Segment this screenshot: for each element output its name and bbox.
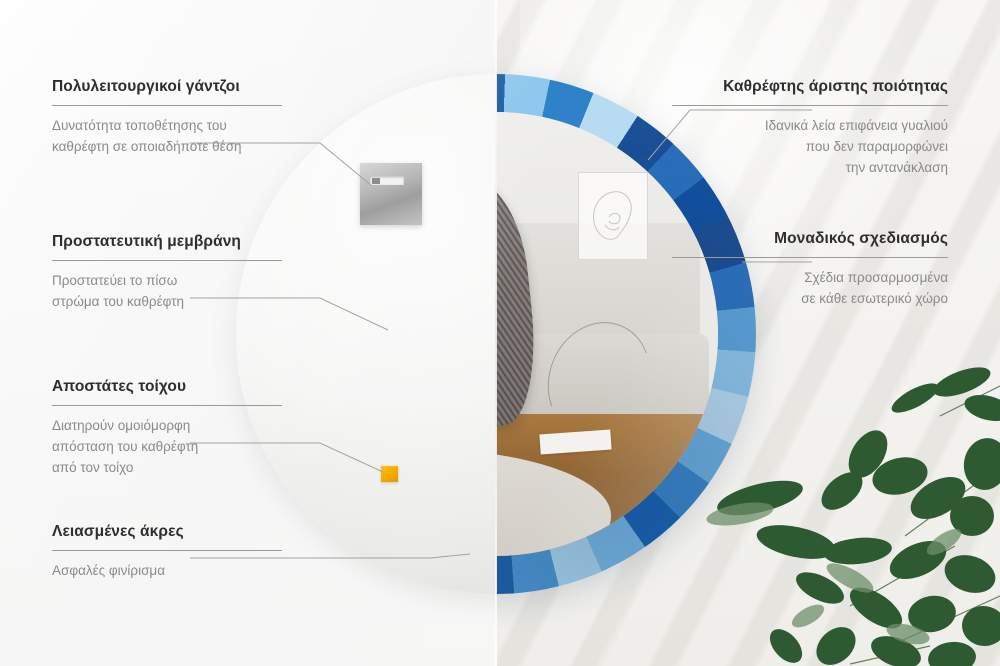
- callout-hooks: Πολυλειτουργικοί γάντζοι Δυνατότητα τοπο…: [52, 78, 282, 158]
- callout-smoothed-edges: Λειασμένες άκρες Ασφαλές φινίρισμα: [52, 523, 282, 582]
- wall-art-frame: [578, 172, 648, 260]
- line-art-face-icon: [579, 173, 647, 259]
- callout-top-quality-mirror-title: Καθρέφτης άριστης ποιότητας: [672, 78, 948, 96]
- callout-protective-membrane-rule: [52, 260, 282, 261]
- callout-wall-spacers: Αποστάτες τοίχου Διατηρούν ομοιόμορφη απ…: [52, 378, 282, 479]
- infographic-canvas: Πολυλειτουργικοί γάντζοι Δυνατότητα τοπο…: [0, 0, 1000, 666]
- callout-wall-spacers-rule: [52, 405, 282, 406]
- callout-top-quality-mirror: Καθρέφτης άριστης ποιότητας Ιδανικά λεία…: [672, 78, 948, 179]
- callout-smoothed-edges-title: Λειασμένες άκρες: [52, 523, 282, 541]
- callout-unique-design-title: Μοναδικός σχεδιασμός: [672, 230, 948, 248]
- callout-unique-design: Μοναδικός σχεδιασμός Σχέδια προσαρμοσμέν…: [672, 230, 948, 310]
- callout-protective-membrane-desc: Προστατεύει το πίσω στρώμα του καθρέφτη: [52, 271, 282, 313]
- callout-smoothed-edges-rule: [52, 550, 282, 551]
- callout-wall-spacers-title: Αποστάτες τοίχου: [52, 378, 282, 396]
- callout-unique-design-desc: Σχέδια προσαρμοσμένα σε κάθε εσωτερικό χ…: [672, 268, 948, 310]
- callout-protective-membrane: Προστατευτική μεμβράνη Προστατεύει το πί…: [52, 233, 282, 313]
- callout-smoothed-edges-desc: Ασφαλές φινίρισμα: [52, 561, 282, 582]
- callout-hooks-rule: [52, 105, 282, 106]
- callout-protective-membrane-title: Προστατευτική μεμβράνη: [52, 233, 282, 251]
- hanging-plate-hardware: [360, 163, 422, 225]
- wall-spacer-hardware: [381, 466, 398, 482]
- panel-split-line: [495, 0, 497, 666]
- keyhole-slot-icon: [370, 176, 404, 185]
- callout-hooks-desc: Δυνατότητα τοποθέτησης του καθρέφτη σε ο…: [52, 116, 282, 158]
- callout-top-quality-mirror-rule: [672, 105, 948, 106]
- callout-hooks-title: Πολυλειτουργικοί γάντζοι: [52, 78, 282, 96]
- callout-top-quality-mirror-desc: Ιδανικά λεία επιφάνεια γυαλιού που δεν π…: [672, 116, 948, 179]
- callout-wall-spacers-desc: Διατηρούν ομοιόμορφη απόσταση του καθρέφ…: [52, 416, 282, 479]
- callout-unique-design-rule: [672, 257, 948, 258]
- foliage-decoration: [700, 346, 1000, 666]
